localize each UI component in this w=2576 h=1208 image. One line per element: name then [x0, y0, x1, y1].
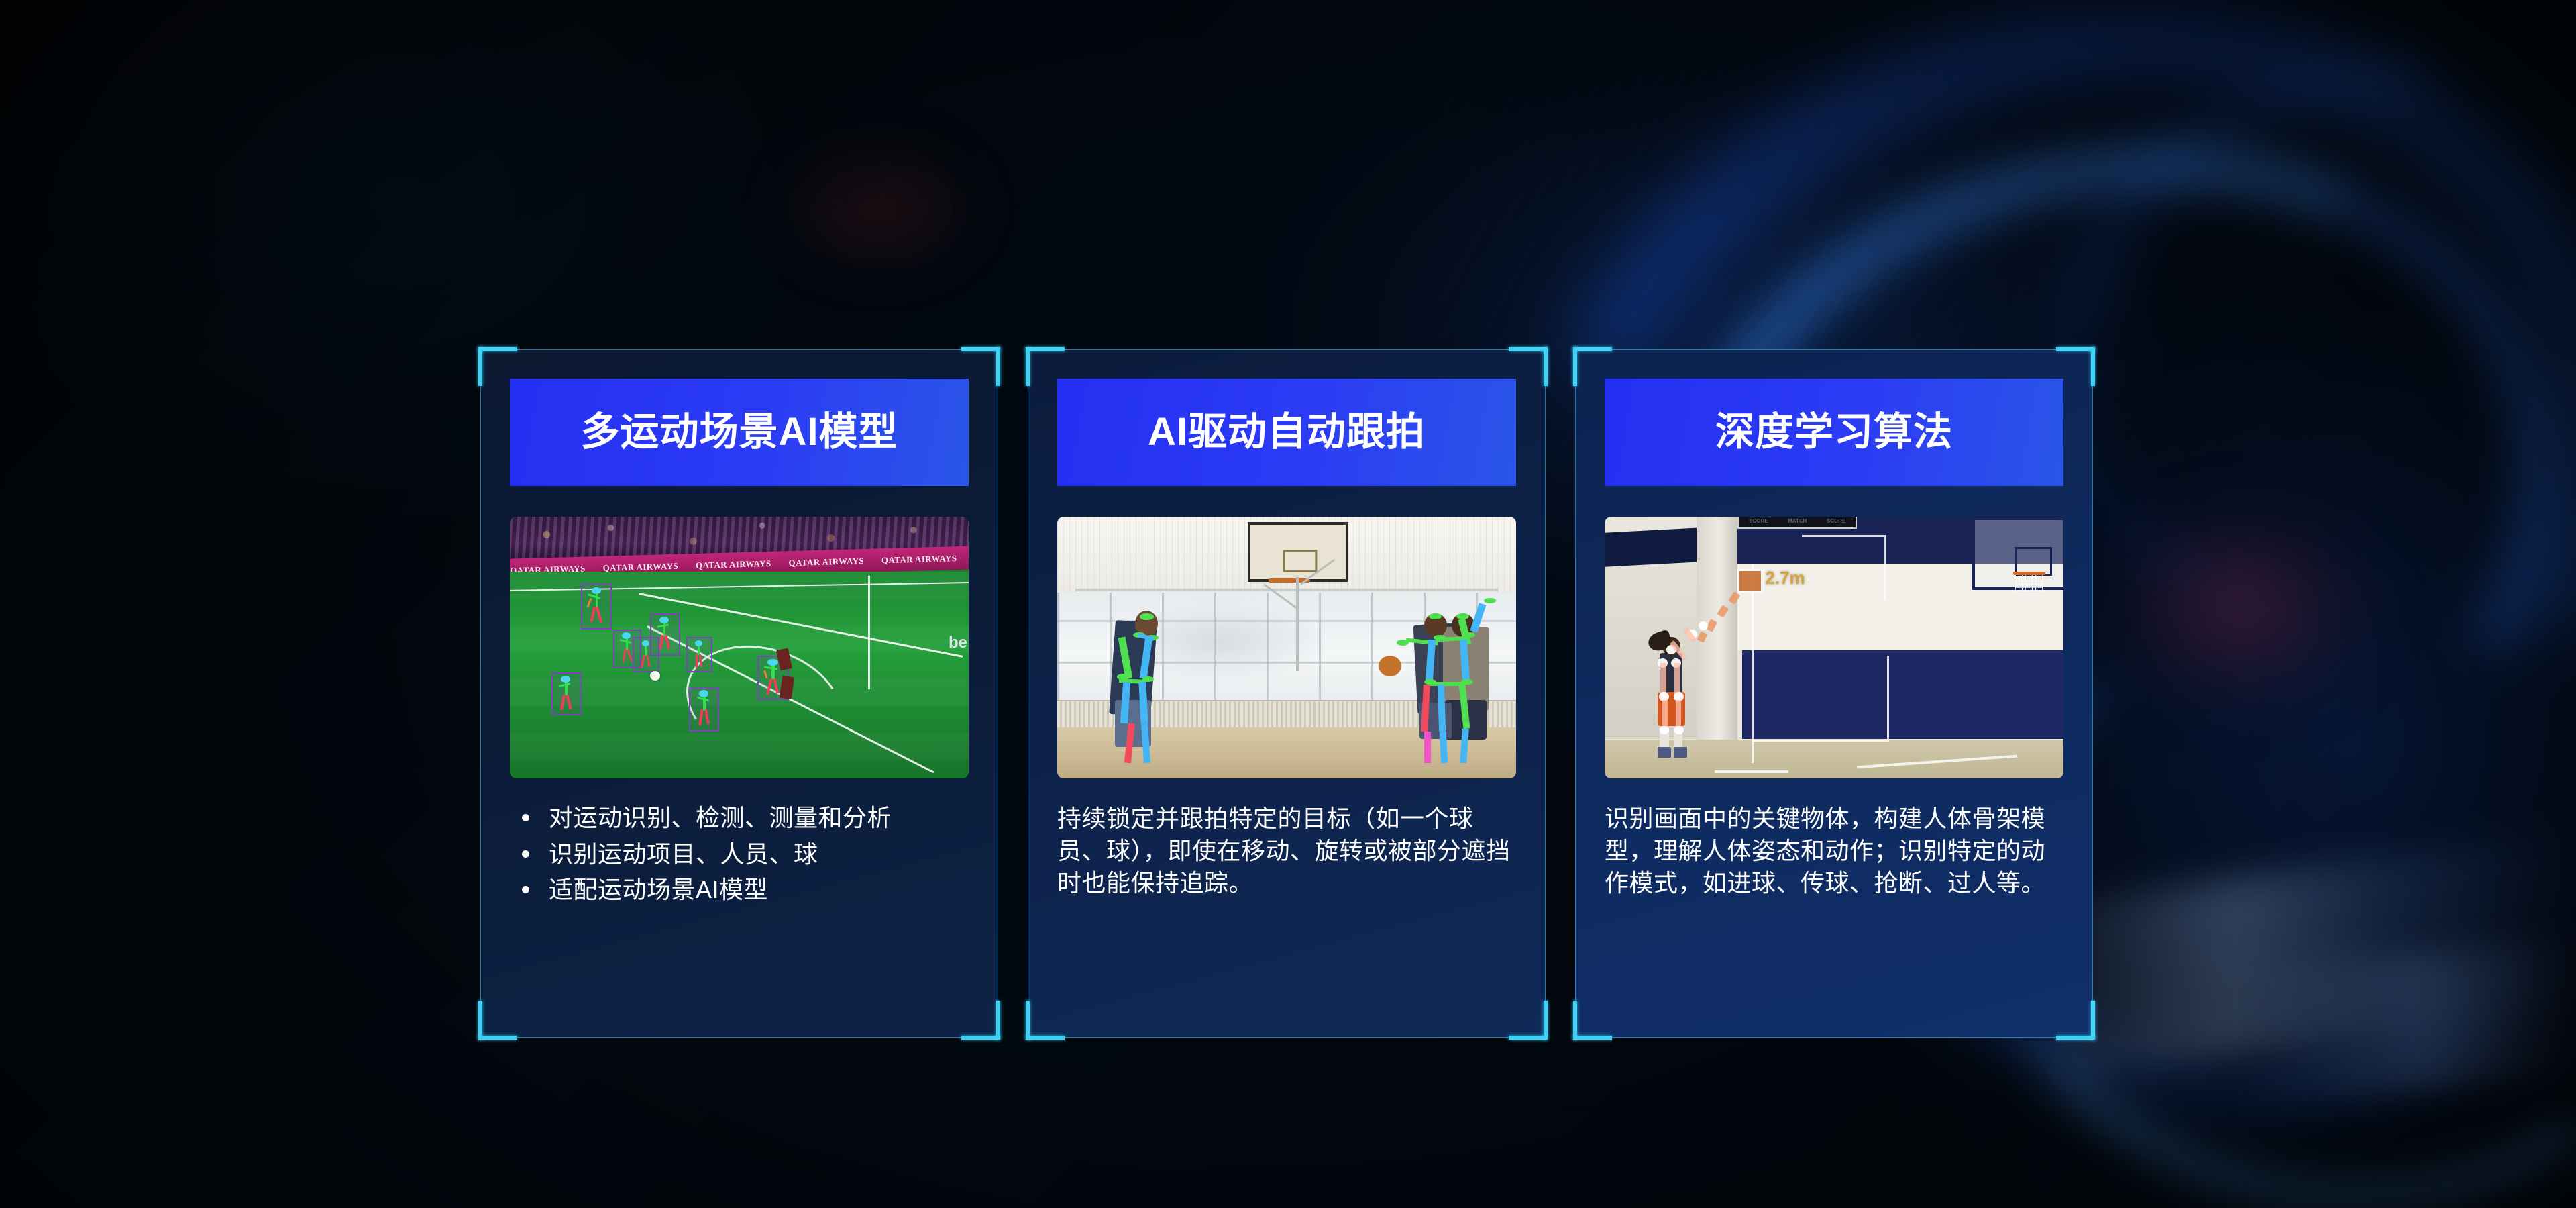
soccer-scene: QATAR AIRWAYS QATAR AIRWAYS QATAR AIRWAY…: [510, 517, 969, 778]
player-shoe: [1658, 747, 1672, 758]
card-thumbnail-shot-tracking[interactable]: SCORE MATCH SCORE 2: [1605, 517, 2063, 778]
list-item: 对运动识别、检测、测量和分析: [510, 803, 971, 834]
pose-keypoint: [1397, 640, 1409, 646]
feature-card-deep-learning-algorithm[interactable]: 深度学习算法 SCORE MATCH SCORE: [1575, 349, 2093, 1038]
feature-card-row: 多运动场景AI模型 QATAR AIRWAYS QATAR AIRWAYS QA…: [480, 349, 2094, 1038]
scoreboard-label: MATCH: [1788, 518, 1807, 524]
tracking-guide-line: [1887, 656, 1889, 740]
scoreboard-label: SCORE: [1827, 518, 1845, 524]
basketball-net: [2015, 575, 2043, 591]
tracking-guide-line: [1752, 564, 1754, 762]
detection-box: [581, 583, 612, 629]
slide-canvas: 多运动场景AI模型 QATAR AIRWAYS QATAR AIRWAYS QA…: [0, 0, 2576, 1208]
sponsor-text: QATAR AIRWAYS: [696, 558, 771, 570]
court-wall-left: [1605, 561, 1701, 739]
pose-bone: [1662, 700, 1668, 729]
card-description-block: 对运动识别、检测、测量和分析 识别运动项目、人员、球 适配运动场景AI模型: [510, 803, 971, 911]
gym-scene: [1057, 517, 1516, 778]
card-header-banner: AI驱动自动跟拍: [1057, 379, 1516, 486]
court-wall-navy-lower: [1742, 650, 2063, 740]
feature-card-ai-auto-tracking[interactable]: AI驱动自动跟拍: [1028, 349, 1546, 1038]
background-red-glow-left: [771, 141, 986, 275]
feature-card-multi-sport-ai-model[interactable]: 多运动场景AI模型 QATAR AIRWAYS QATAR AIRWAYS QA…: [480, 349, 998, 1038]
pose-keypoint: [1699, 621, 1708, 630]
sponsor-text: QATAR AIRWAYS: [881, 552, 957, 565]
detection-box: [689, 687, 719, 732]
pose-keypoint: [1674, 726, 1684, 734]
list-item: 适配运动场景AI模型: [510, 874, 971, 905]
tracking-guide-line: [1802, 535, 1884, 537]
pose-bone: [1676, 700, 1681, 729]
pitch-line: [868, 576, 870, 689]
pose-bone: [1437, 684, 1445, 731]
card-description-text: 识别画面中的关键物体，构建人体骨架模型，理解人体姿态和动作；识别特定的动作模式，…: [1605, 803, 2066, 900]
pose-bone: [1427, 682, 1464, 686]
court-scene: SCORE MATCH SCORE 2: [1605, 517, 2063, 778]
scoreboard-label: SCORE: [1749, 518, 1768, 524]
court-floor-line: [1715, 770, 1788, 773]
basketball: [1379, 656, 1401, 676]
card-header-banner: 深度学习算法: [1605, 379, 2063, 486]
soccer-ball: [650, 671, 660, 681]
pose-bone: [1424, 732, 1431, 763]
detection-box: [551, 672, 582, 715]
card-title: 深度学习算法: [1715, 413, 1953, 452]
card-thumbnail-soccer-detection[interactable]: QATAR AIRWAYS QATAR AIRWAYS QATAR AIRWAY…: [510, 517, 969, 778]
court-wall-navy-band: [1605, 527, 1701, 566]
pose-keypoint: [1140, 613, 1154, 620]
tracking-guide-line: [1752, 740, 1889, 742]
basketball-backboard: [1248, 522, 1348, 583]
background-red-glow-right: [2100, 497, 2388, 718]
detection-box: [633, 637, 659, 672]
ball-tracking-box: [1737, 569, 1762, 593]
feature-bullet-list: 对运动识别、检测、测量和分析 识别运动项目、人员、球 适配运动场景AI模型: [510, 803, 971, 905]
backboard-inner-square: [1283, 550, 1317, 572]
hoop-support-pole: [1296, 577, 1299, 671]
list-item: 识别运动项目、人员、球: [510, 839, 971, 870]
distance-measurement-label: 2.7m: [1765, 568, 1805, 589]
sponsor-text: QATAR AIRWAYS: [789, 555, 865, 568]
card-header-banner: 多运动场景AI模型: [510, 379, 969, 486]
card-thumbnail-basketball-pose[interactable]: [1057, 517, 1516, 778]
card-title: AI驱动自动跟拍: [1148, 413, 1426, 452]
card-description-block: 识别画面中的关键物体，构建人体骨架模型，理解人体姿态和动作；识别特定的动作模式，…: [1605, 803, 2066, 900]
card-title: 多运动场景AI模型: [580, 413, 898, 452]
player-shoe: [1674, 747, 1688, 758]
card-description-text: 持续锁定并跟拍特定的目标（如一个球员、球），即使在移动、旋转或被部分遮挡时也能保…: [1057, 803, 1519, 900]
court-scoreboard: SCORE MATCH SCORE: [1737, 517, 1857, 529]
detection-box: [686, 637, 712, 672]
tracking-guide-line: [1884, 535, 1886, 601]
gym-ceiling-rail: [1075, 589, 1497, 591]
card-description-block: 持续锁定并跟拍特定的目标（如一个球员、球），即使在移动、旋转或被部分遮挡时也能保…: [1057, 803, 1519, 900]
betting-sponsor-logo: be: [949, 634, 967, 652]
